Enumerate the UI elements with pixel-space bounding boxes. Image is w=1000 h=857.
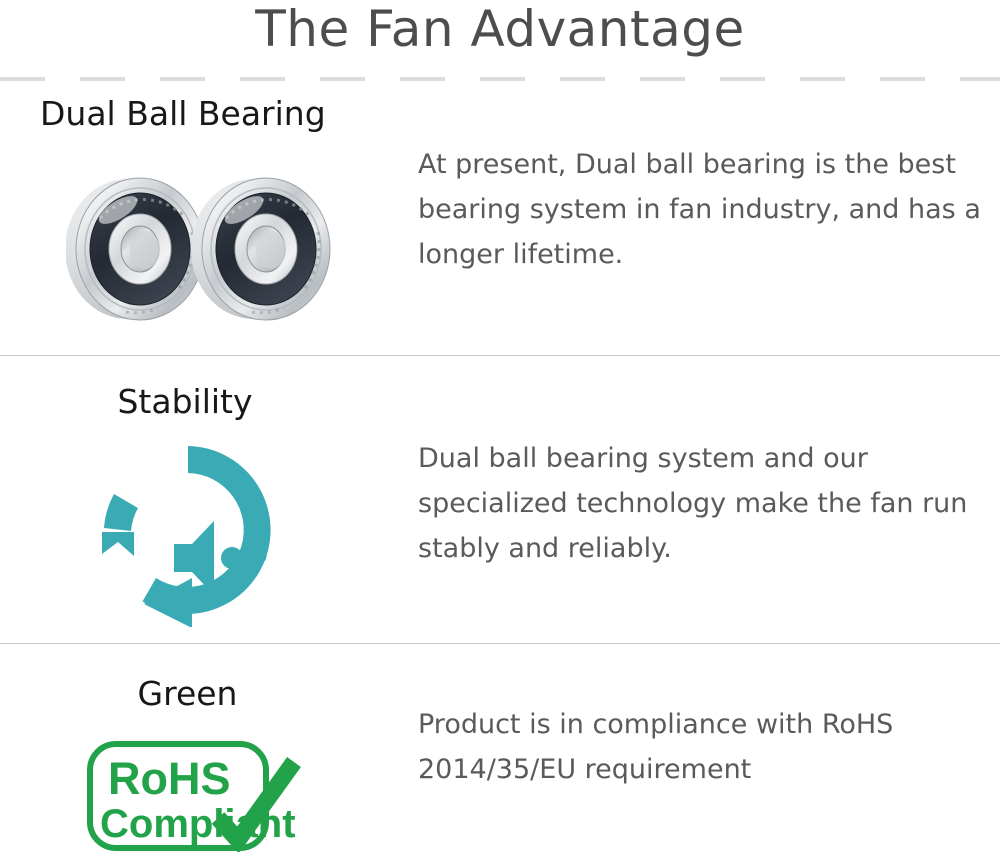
section-divider-1: [0, 355, 1000, 356]
feature-heading-green: Green: [0, 674, 375, 714]
feature-media-column: Green RoHS Compliant: [0, 652, 400, 852]
feature-body-green: Product is in compliance with RoHS 2014/…: [418, 702, 986, 792]
feature-section-stability: Stability Dual: [0, 362, 1000, 642]
feature-body-stability: Dual ball bearing system and our special…: [418, 436, 986, 571]
feature-media-column: Stability: [0, 362, 400, 642]
dashed-divider: [0, 77, 1000, 81]
feature-heading-stability: Stability: [0, 382, 370, 422]
feature-media-column: Dual Ball Bearing: [0, 94, 400, 354]
ball-bearing-pair-image: [66, 172, 346, 327]
feature-section-green: Green RoHS Compliant Product is in compl…: [0, 652, 1000, 852]
feature-section-dual-ball-bearing: Dual Ball Bearing: [0, 94, 1000, 354]
feature-heading-dual-ball-bearing: Dual Ball Bearing: [40, 94, 326, 134]
rohs-compliant-badge: RoHS Compliant: [86, 740, 306, 852]
rohs-badge-line1: RoHS: [108, 753, 231, 804]
section-divider-2: [0, 643, 1000, 644]
page-title: The Fan Advantage: [0, 0, 1000, 60]
stability-rotation-icon: [88, 432, 288, 627]
feature-body-dual-ball-bearing: At present, Dual ball bearing is the bes…: [418, 142, 986, 277]
